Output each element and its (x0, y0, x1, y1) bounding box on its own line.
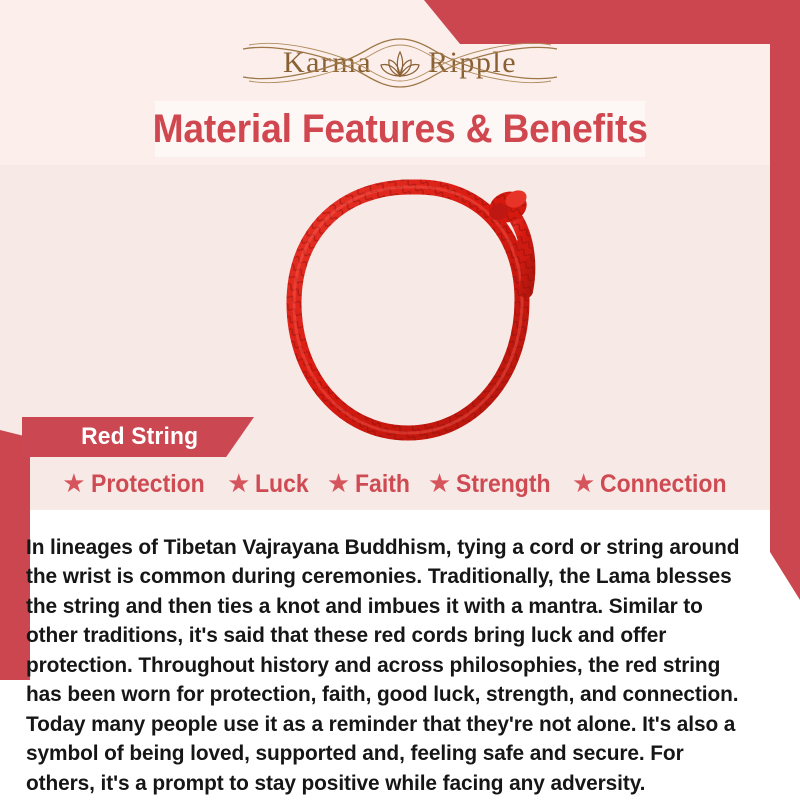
benefit-item: ★ Luck (227, 471, 314, 497)
benefit-label: Faith (355, 472, 410, 497)
material-tag-label: Red String (81, 423, 198, 451)
brand-logo: Karma Ripple (0, 28, 800, 98)
brand-name-right: Ripple (428, 48, 517, 78)
benefit-item: ★ Connection (572, 471, 738, 497)
page-title: Material Features & Benefits (152, 109, 647, 149)
star-icon: ★ (62, 470, 85, 496)
infographic-poster: Karma Ripple Material Features & Benefit… (0, 0, 800, 800)
lotus-icon (378, 46, 422, 80)
benefit-label: Protection (91, 472, 205, 497)
benefit-label: Luck (255, 472, 309, 497)
benefit-label: Strength (456, 472, 551, 497)
benefits-row: ★ Protection ★ Luck ★ Faith ★ Strength ★… (26, 466, 774, 502)
brand-name-left: Karma (283, 48, 372, 78)
material-tag: Red String (22, 417, 254, 457)
benefit-item: ★ Faith (327, 471, 415, 497)
benefit-item: ★ Strength (428, 471, 559, 497)
star-icon: ★ (572, 470, 595, 496)
star-icon: ★ (428, 470, 451, 496)
star-icon: ★ (327, 470, 350, 496)
title-banner: Material Features & Benefits (155, 101, 645, 157)
product-image (250, 165, 580, 465)
red-string-bracelet-illustration (250, 165, 580, 465)
benefit-label: Connection (600, 472, 727, 497)
benefit-item: ★ Protection (62, 471, 214, 497)
star-icon: ★ (227, 470, 250, 496)
description-paragraph: In lineages of Tibetan Vajrayana Buddhis… (26, 533, 755, 799)
